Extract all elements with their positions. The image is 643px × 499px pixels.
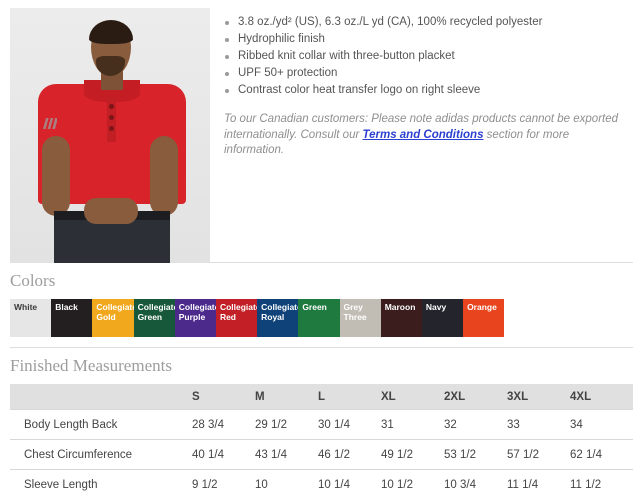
list-item: Hydrophilic finish xyxy=(224,31,621,48)
column-header-l: L xyxy=(318,384,381,410)
divider-above-measurements xyxy=(10,347,633,348)
color-swatch-label: Collegiate Green xyxy=(138,302,175,322)
color-swatch-white[interactable]: White xyxy=(10,299,51,337)
color-swatch-collegiate-purple[interactable]: Collegiate Purple xyxy=(175,299,216,337)
color-swatch-label: Collegiate Purple xyxy=(179,302,216,322)
shirt-button-1 xyxy=(109,104,114,109)
color-swatch-maroon[interactable]: Maroon xyxy=(381,299,422,337)
column-header-m: M xyxy=(255,384,318,410)
color-swatch-label: Collegiate Royal xyxy=(261,302,298,322)
feature-list: 3.8 oz./yd² (US), 6.3 oz./L yd (CA), 100… xyxy=(224,14,621,99)
cell: 34 xyxy=(570,410,633,440)
cell: 31 xyxy=(381,410,444,440)
color-swatch-label: Maroon xyxy=(385,302,416,312)
table-header: S M L XL 2XL 3XL 4XL xyxy=(10,384,633,410)
column-header-label xyxy=(10,384,192,410)
cell: 29 1/2 xyxy=(255,410,318,440)
color-swatch-collegiate-royal[interactable]: Collegiate Royal xyxy=(257,299,298,337)
color-swatch-label: Orange xyxy=(467,302,497,312)
cell: 10 1/4 xyxy=(318,470,381,499)
cell: 30 1/4 xyxy=(318,410,381,440)
color-swatch-label: Black xyxy=(55,302,78,312)
color-swatch-label: Green xyxy=(302,302,327,312)
product-image[interactable] xyxy=(10,8,210,263)
finished-measurements-table: S M L XL 2XL 3XL 4XL Body Length Back 28… xyxy=(10,384,633,499)
adidas-logo-icon xyxy=(43,118,57,129)
color-swatch-orange[interactable]: Orange xyxy=(463,299,504,337)
canadian-customers-note: To our Canadian customers: Please note a… xyxy=(224,112,621,159)
color-swatch-grey-three[interactable]: Grey Three xyxy=(340,299,381,337)
terms-and-conditions-link[interactable]: Terms and Conditions xyxy=(363,129,484,141)
column-header-s: S xyxy=(192,384,255,410)
list-item: 3.8 oz./yd² (US), 6.3 oz./L yd (CA), 100… xyxy=(224,14,621,31)
cell: 10 xyxy=(255,470,318,499)
cell: 28 3/4 xyxy=(192,410,255,440)
cell: 40 1/4 xyxy=(192,440,255,470)
table-row: Sleeve Length 9 1/2 10 10 1/4 10 1/2 10 … xyxy=(10,470,633,499)
list-item: Contrast color heat transfer logo on rig… xyxy=(224,82,621,99)
measurements-heading: Finished Measurements xyxy=(10,356,643,376)
model-hands xyxy=(84,198,138,224)
cell: 10 1/2 xyxy=(381,470,444,499)
list-item: UPF 50+ protection xyxy=(224,65,621,82)
shirt-button-2 xyxy=(109,115,114,120)
cell: 11 1/4 xyxy=(507,470,570,499)
cell: 10 3/4 xyxy=(444,470,507,499)
color-swatch-collegiate-red[interactable]: Collegiate Red xyxy=(216,299,257,337)
table-row: Chest Circumference 40 1/4 43 1/4 46 1/2… xyxy=(10,440,633,470)
colors-heading: Colors xyxy=(10,271,643,291)
color-swatch-label: Navy xyxy=(426,302,446,312)
table-body: Body Length Back 28 3/4 29 1/2 30 1/4 31… xyxy=(10,410,633,499)
table-header-row: S M L XL 2XL 3XL 4XL xyxy=(10,384,633,410)
product-overview-section: 3.8 oz./yd² (US), 6.3 oz./L yd (CA), 100… xyxy=(0,0,643,262)
color-swatch-navy[interactable]: Navy xyxy=(422,299,463,337)
color-swatch-collegiate-gold[interactable]: Collegiate Gold xyxy=(92,299,133,337)
cell: 46 1/2 xyxy=(318,440,381,470)
color-swatch-label: Collegiate Red xyxy=(220,302,257,322)
cell: 57 1/2 xyxy=(507,440,570,470)
cell: 32 xyxy=(444,410,507,440)
column-header-4xl: 4XL xyxy=(570,384,633,410)
color-swatch-black[interactable]: Black xyxy=(51,299,92,337)
color-swatch-label: Grey Three xyxy=(344,302,367,322)
cell: 11 1/2 xyxy=(570,470,633,499)
row-label: Body Length Back xyxy=(10,410,192,440)
color-swatch-green[interactable]: Green xyxy=(298,299,339,337)
cell: 49 1/2 xyxy=(381,440,444,470)
row-label: Sleeve Length xyxy=(10,470,192,499)
cell: 43 1/4 xyxy=(255,440,318,470)
table-row: Body Length Back 28 3/4 29 1/2 30 1/4 31… xyxy=(10,410,633,440)
cell: 53 1/2 xyxy=(444,440,507,470)
color-swatch-collegiate-green[interactable]: Collegiate Green xyxy=(134,299,175,337)
color-swatch-label: Collegiate Gold xyxy=(96,302,133,322)
column-header-3xl: 3XL xyxy=(507,384,570,410)
product-details: 3.8 oz./yd² (US), 6.3 oz./L yd (CA), 100… xyxy=(210,8,643,170)
cell: 33 xyxy=(507,410,570,440)
column-header-xl: XL xyxy=(381,384,444,410)
column-header-2xl: 2XL xyxy=(444,384,507,410)
cell: 62 1/4 xyxy=(570,440,633,470)
list-item: Ribbed knit collar with three-button pla… xyxy=(224,48,621,65)
row-label: Chest Circumference xyxy=(10,440,192,470)
color-swatch-label: White xyxy=(14,302,37,312)
color-swatch-row: White Black Collegiate Gold Collegiate G… xyxy=(10,299,545,337)
shirt-button-3 xyxy=(109,126,114,131)
model-right-arm xyxy=(150,136,178,216)
cell: 9 1/2 xyxy=(192,470,255,499)
model-left-arm xyxy=(42,136,70,216)
